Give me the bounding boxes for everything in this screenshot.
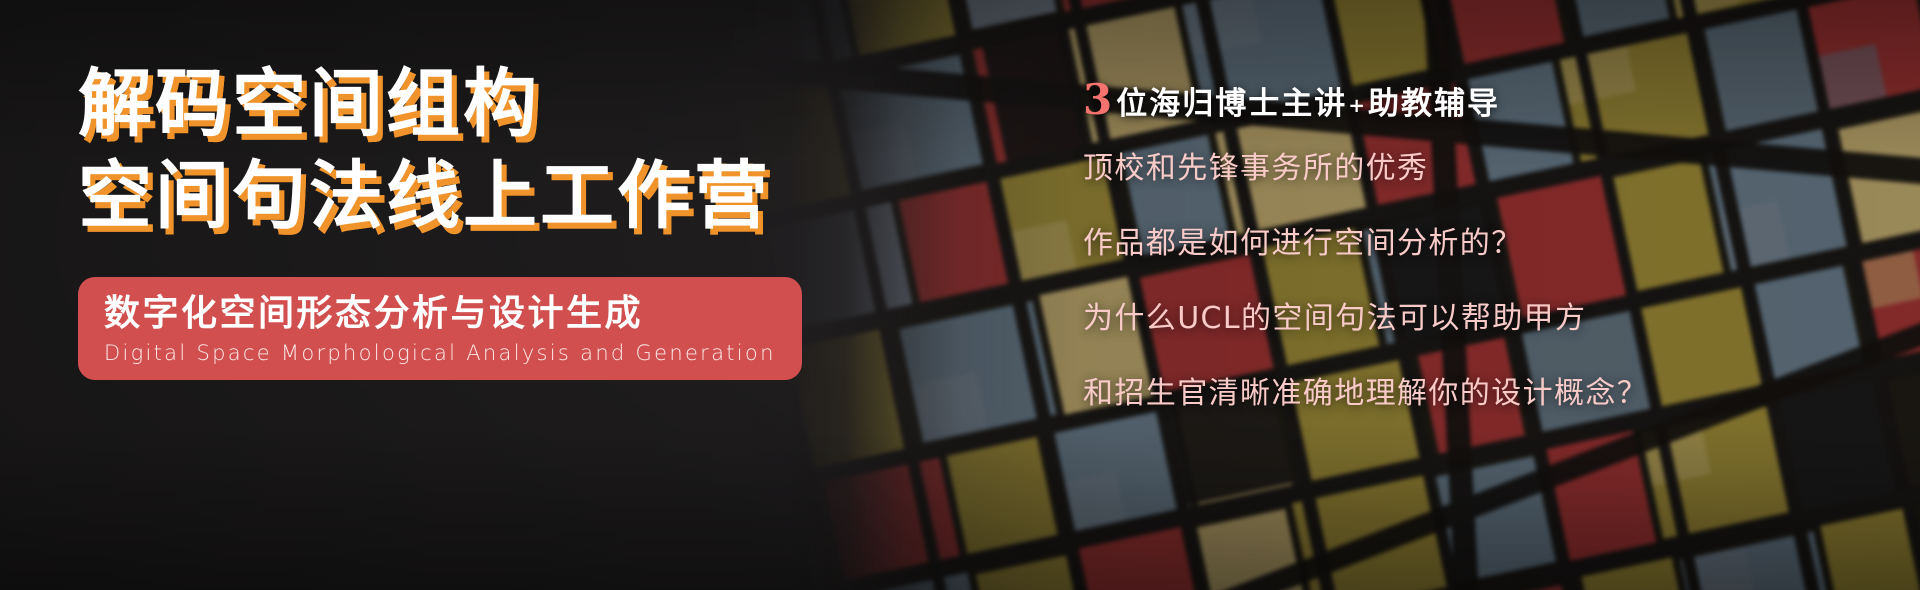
course-promo-banner: 解码空间组构 空间句法线上工作营 数字化空间形态分析与设计生成 Digital …: [0, 0, 1920, 590]
kicker-plus-sign: +: [1347, 93, 1368, 117]
instructor-count: 3: [1083, 75, 1116, 124]
kicker-text-after-plus: 助教辅导: [1368, 86, 1500, 122]
question-line-1: 顶校和先锋事务所的优秀: [1083, 154, 1883, 184]
headline-line-1: 解码空间组构: [78, 62, 778, 146]
question-line-4: 和招生官清晰准确地理解你的设计概念？: [1083, 379, 1883, 409]
headline-line-2: 空间句法线上工作营: [78, 154, 778, 238]
badge-subtitle-english: Digital Space Morphological Analysis and…: [104, 341, 776, 365]
kicker-text-before-plus: 位海归博士主讲: [1116, 86, 1347, 122]
left-text-column: 解码空间组构 空间句法线上工作营 数字化空间形态分析与设计生成 Digital …: [78, 62, 778, 380]
question-line-3: 为什么UCL的空间句法可以帮助甲方: [1083, 304, 1883, 334]
right-text-column: 3位海归博士主讲+助教辅导 顶校和先锋事务所的优秀 作品都是如何进行空间分析的？…: [1083, 78, 1883, 409]
question-lines-group: 顶校和先锋事务所的优秀 作品都是如何进行空间分析的？ 为什么UCL的空间句法可以…: [1083, 154, 1883, 409]
badge-title-chinese: 数字化空间形态分析与设计生成: [104, 291, 776, 336]
subtitle-badge: 数字化空间形态分析与设计生成 Digital Space Morphologic…: [78, 277, 802, 380]
instructor-kicker: 3位海归博士主讲+助教辅导: [1083, 78, 1883, 123]
question-line-2: 作品都是如何进行空间分析的？: [1083, 229, 1883, 259]
